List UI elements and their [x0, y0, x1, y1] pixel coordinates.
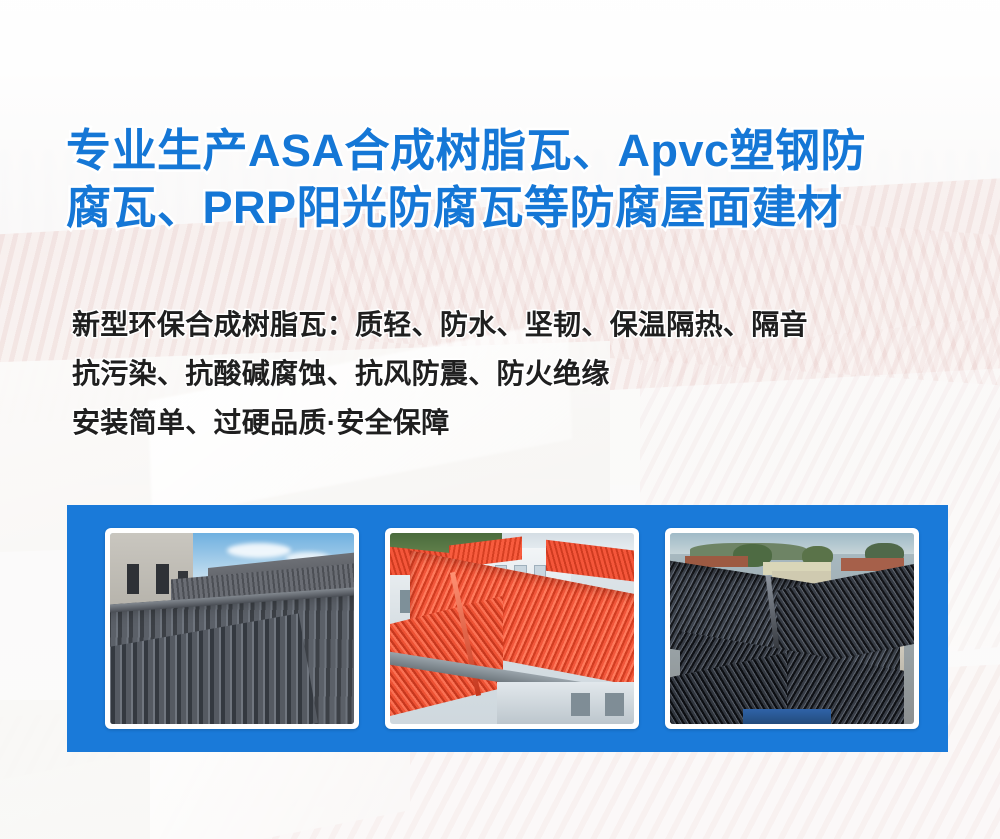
gallery-photo-grey-tile-roof[interactable] — [105, 528, 359, 729]
photo-gallery-panel — [67, 505, 948, 752]
gallery-photo-black-tile-roof[interactable] — [665, 528, 919, 729]
headline: 专业生产ASA合成树脂瓦、Apvc塑钢防 腐瓦、PRP阳光防腐瓦等防腐屋面建材 — [66, 122, 946, 236]
subtitle-features: 新型环保合成树脂瓦：质轻、防水、坚韧、保温隔热、隔音 抗污染、抗酸碱腐蚀、抗风防… — [72, 300, 962, 447]
photo-image-red-tile-roof — [390, 533, 634, 724]
photo-image-black-tile-roof — [670, 533, 914, 724]
product-banner: 专业生产ASA合成树脂瓦、Apvc塑钢防 腐瓦、PRP阳光防腐瓦等防腐屋面建材 … — [0, 0, 1000, 839]
gallery-photo-red-tile-roof[interactable] — [385, 528, 639, 729]
photo-image-grey-tile-roof — [110, 533, 354, 724]
